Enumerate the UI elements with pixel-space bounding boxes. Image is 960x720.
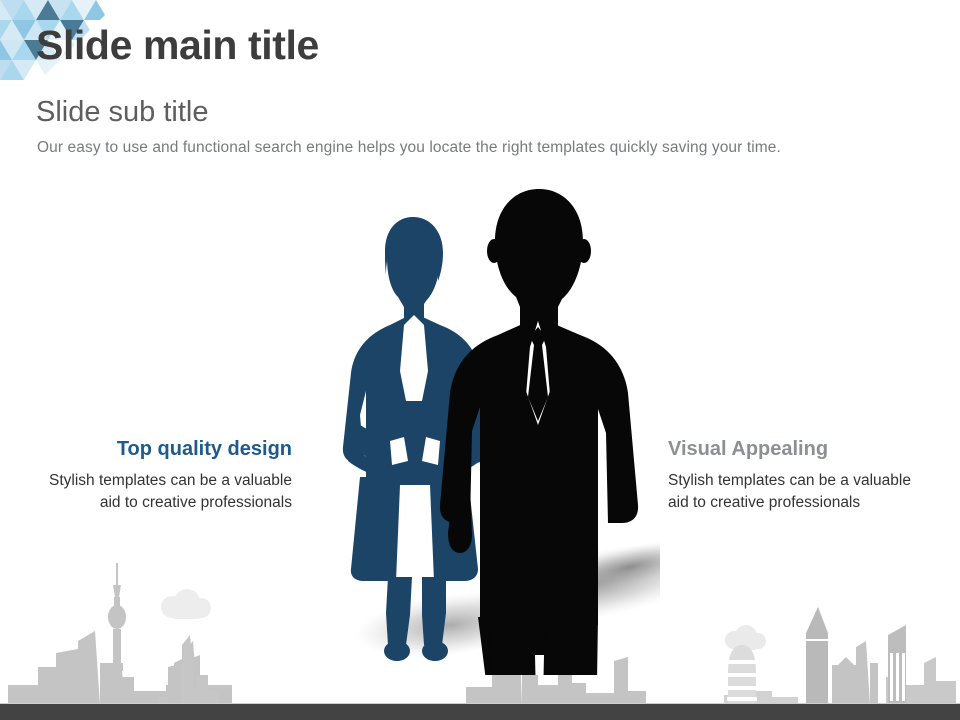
block-heading-right: Visual Appealing (668, 437, 920, 461)
text-block-top-quality-design: Top quality design Stylish templates can… (30, 437, 292, 515)
block-heading-left: Top quality design (30, 437, 292, 461)
slide-intro-text: Our easy to use and functional search en… (37, 139, 781, 157)
footer-bar (0, 704, 960, 720)
tapered-tower (806, 607, 828, 705)
block-body-left: Stylish templates can be a valuable aid … (30, 470, 292, 515)
slide-canvas: Slide main title Slide sub title Our eas… (0, 0, 960, 720)
slide-sub-title: Slide sub title (36, 97, 209, 129)
slide-main-title: Slide main title (36, 24, 319, 67)
text-block-visual-appealing: Visual Appealing Stylish templates can b… (668, 437, 920, 515)
business-people-illustration (330, 185, 660, 675)
block-body-right: Stylish templates can be a valuable aid … (668, 470, 920, 515)
